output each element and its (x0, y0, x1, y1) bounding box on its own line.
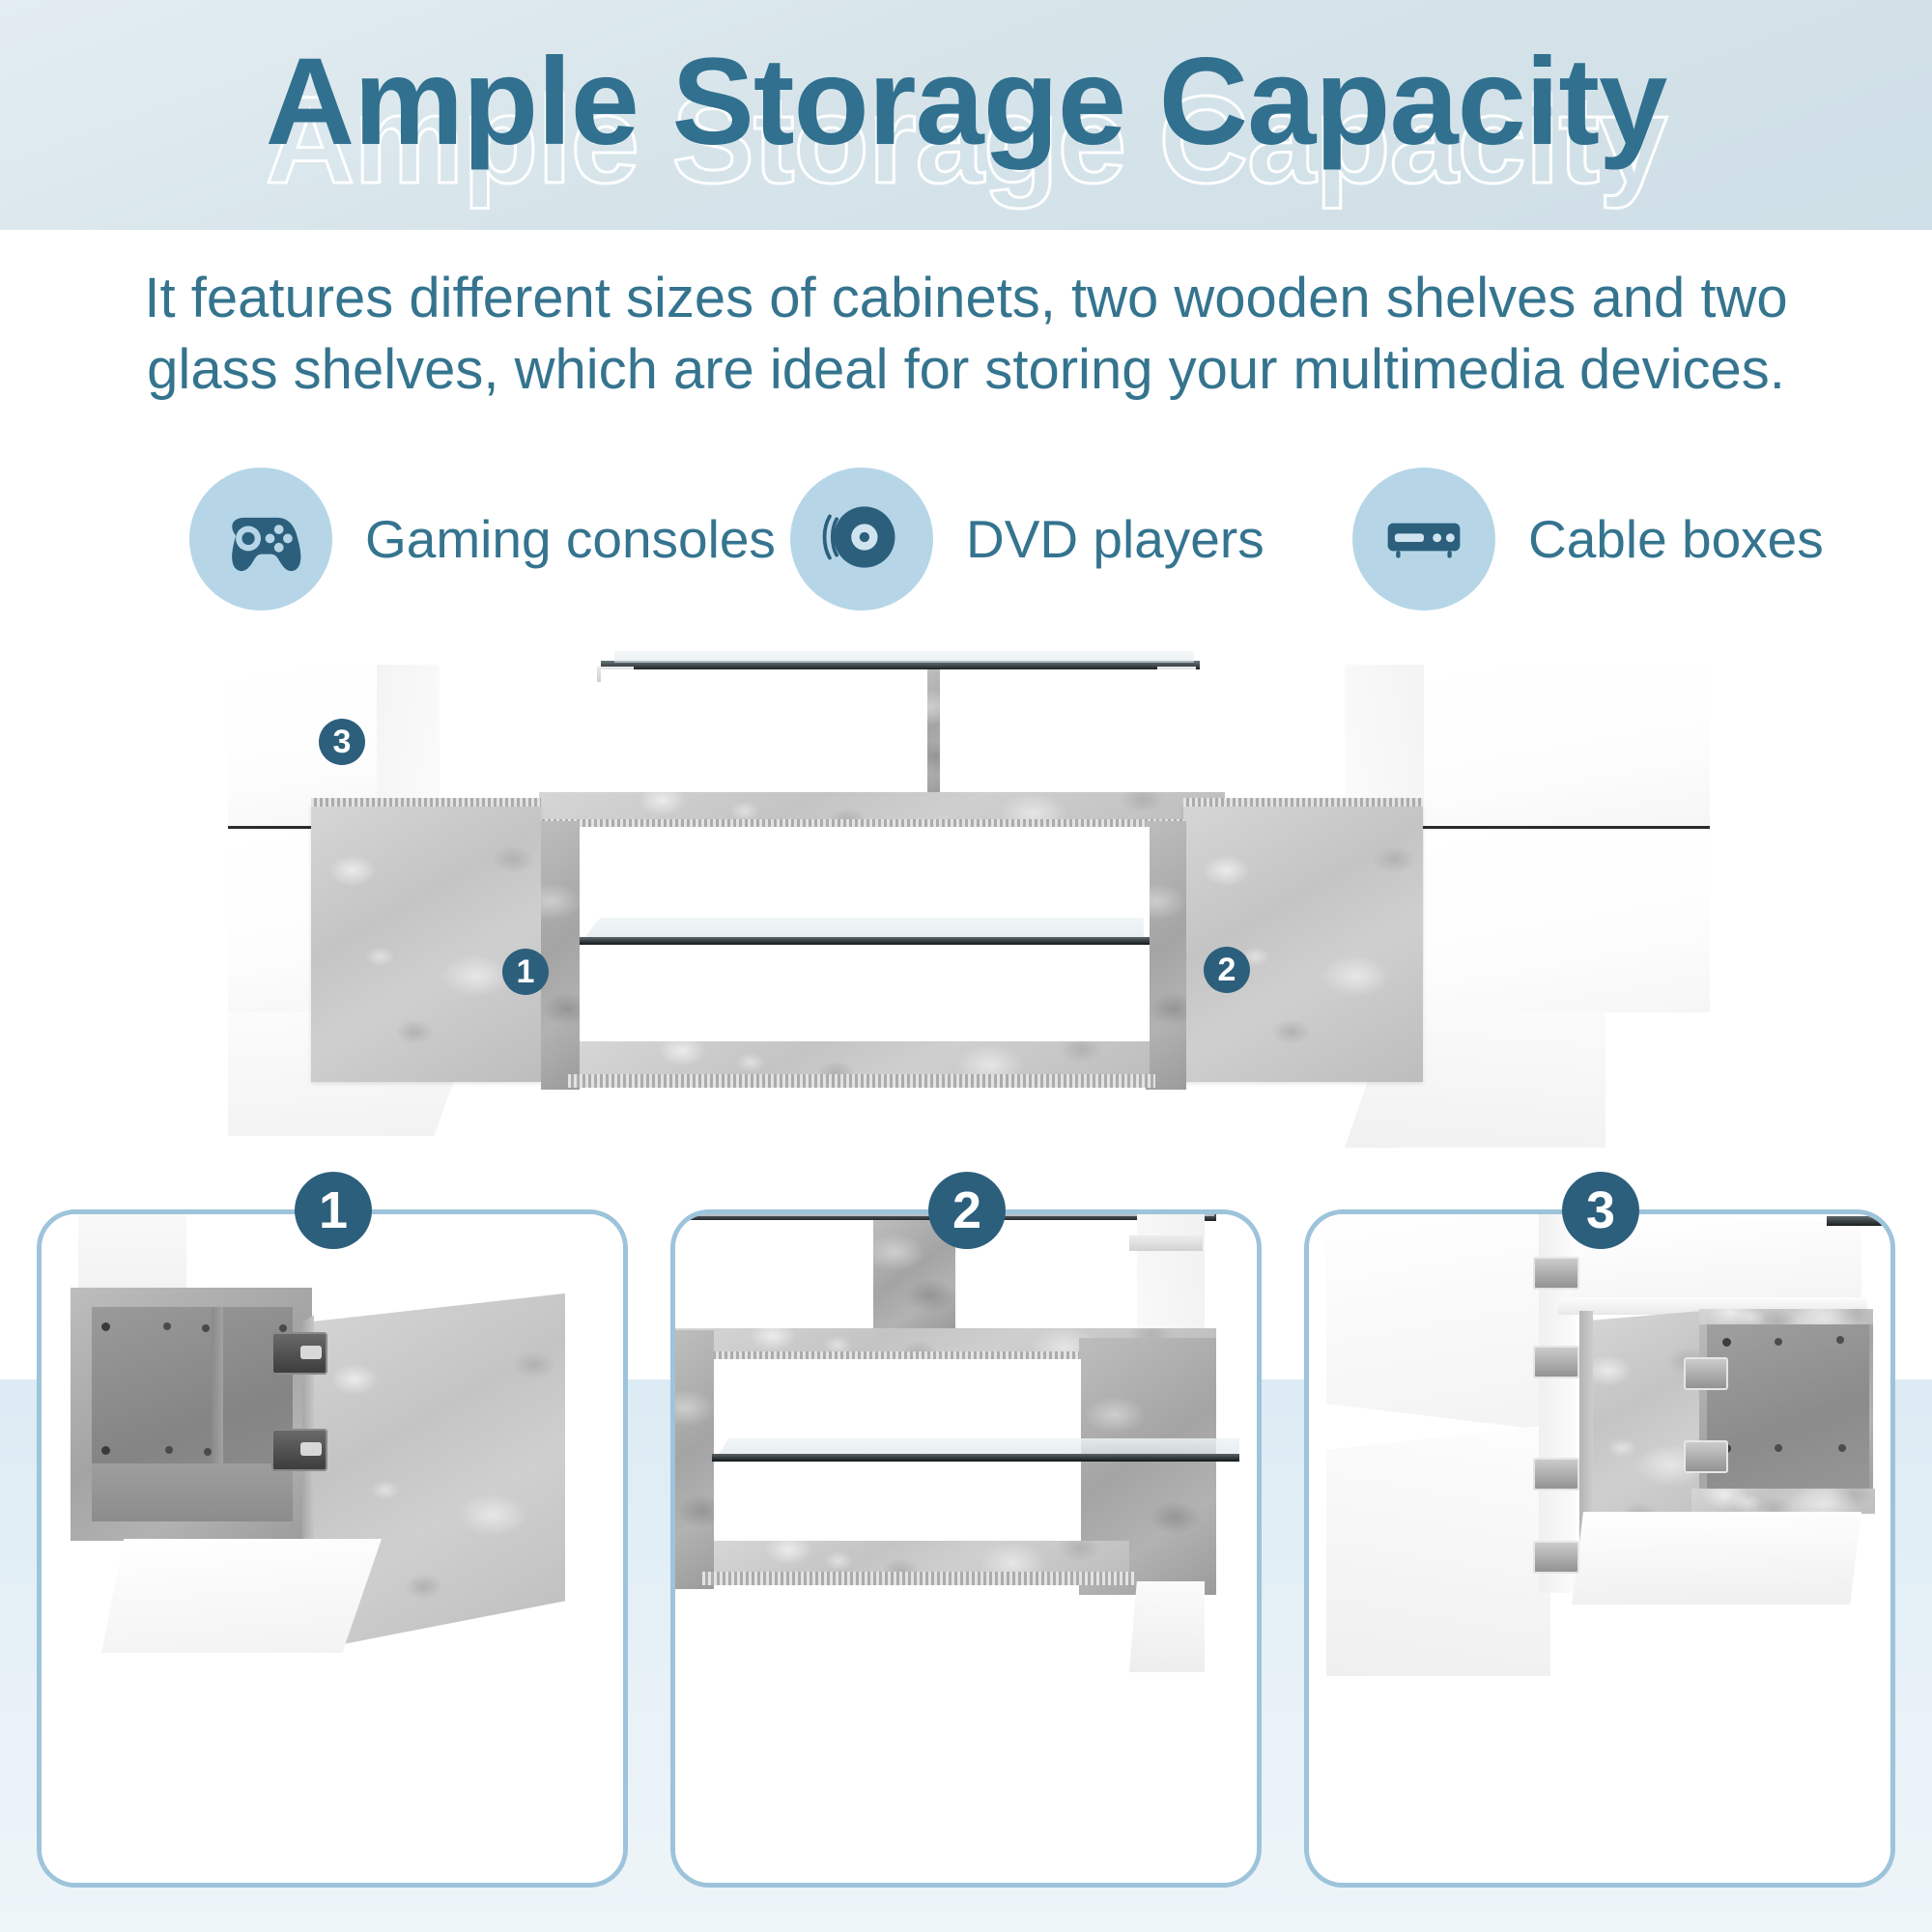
callout-badge-3: 3 (319, 719, 365, 765)
cabinet-hinge (1684, 1440, 1728, 1473)
detail-panel-badge-1: 1 (295, 1172, 372, 1249)
title-block: Ample Storage Capacity Ample Storage Cap… (0, 0, 1932, 230)
dvd-disc-icon (817, 493, 906, 586)
cable-box-icon (1379, 493, 1468, 586)
cabinet-hinge (1533, 1458, 1579, 1491)
center-glass-shelf-surface (583, 918, 1144, 939)
center-glass-shelf-edge (712, 1454, 1239, 1462)
white-base-leg (1129, 1581, 1205, 1672)
detail-panel-2 (670, 1209, 1262, 1888)
header-band: Ample Storage Capacity Ample Storage Cap… (0, 0, 1932, 230)
detail-photo-1 (42, 1214, 623, 1883)
detail-photo-3 (1309, 1214, 1890, 1883)
screw-hole (165, 1446, 173, 1454)
gray-left-inner-wall (541, 821, 580, 1090)
feature-item-dvd-players: DVD players (790, 462, 1264, 616)
cabinet-hinge-arm (300, 1442, 322, 1456)
subtitle-text: It features different sizes of cabinets,… (135, 263, 1797, 405)
page-title: Ample Storage Capacity (0, 41, 1932, 164)
detail-panel-1 (37, 1209, 628, 1888)
product-hero-image: 1 2 3 (0, 638, 1932, 1179)
screw-hole (204, 1448, 212, 1456)
callout-badge-2: 2 (1204, 947, 1250, 993)
upper-bay-back (601, 669, 1200, 793)
screw-hole (1836, 1336, 1844, 1344)
detail-panel-3 (1304, 1209, 1895, 1888)
open-white-door-upper (1326, 1209, 1550, 1431)
open-white-door-lower (1326, 1425, 1550, 1676)
screw-hole (279, 1324, 287, 1332)
gray-interior-floor (92, 1463, 293, 1521)
callout-number: 1 (517, 953, 535, 991)
center-glass-shelf-edge (580, 937, 1150, 945)
screw-hole (1775, 1338, 1782, 1346)
white-base-panel (1572, 1512, 1861, 1605)
badge-number: 1 (319, 1180, 348, 1240)
gray-interior-back (1707, 1321, 1869, 1491)
badge-number: 3 (1586, 1180, 1615, 1240)
top-glass-shelf-surface (614, 651, 1194, 663)
feature-icon-badge (790, 468, 933, 611)
white-base-panel (101, 1539, 382, 1653)
feature-item-cable-boxes: Cable boxes (1352, 462, 1824, 616)
feature-label: Cable boxes (1528, 508, 1824, 570)
feature-row: Gaming consoles DVD players (0, 462, 1932, 616)
badge-number: 2 (952, 1180, 981, 1240)
white-cabinet-right-lower (1420, 829, 1710, 1012)
detail-photo-2 (675, 1214, 1257, 1883)
gray-door-right-top-edge (1183, 798, 1423, 807)
feature-label: Gaming consoles (365, 508, 776, 570)
gamepad-icon (216, 493, 305, 586)
gray-right-inner-wall (1146, 821, 1186, 1090)
feature-item-gaming-consoles: Gaming consoles (189, 462, 776, 616)
shelf-left-wall (675, 1330, 714, 1589)
feature-label: DVD players (966, 508, 1264, 570)
detail-panel-badge-2: 2 (928, 1172, 1006, 1249)
gray-cabinet-door-left (311, 804, 541, 1082)
screw-hole (1722, 1338, 1731, 1347)
screw-hole (101, 1446, 110, 1455)
callout-number: 3 (333, 724, 352, 761)
screw-hole (202, 1324, 210, 1332)
feature-icon-badge (1352, 468, 1495, 611)
callout-badge-1: 1 (502, 949, 549, 995)
gray-interior-floor (1691, 1489, 1875, 1514)
screw-hole (1775, 1444, 1782, 1452)
cabinet-hinge (1533, 1541, 1579, 1574)
gray-door-left-top-edge (311, 798, 541, 807)
detail-panel-badge-3: 3 (1562, 1172, 1639, 1249)
cabinet-hinge (1533, 1257, 1579, 1290)
cabinet-hinge (1533, 1346, 1579, 1378)
cabinet-hinge-arm (300, 1346, 322, 1359)
center-bottom-shelf-edge (568, 1074, 1155, 1088)
feature-icon-badge (189, 468, 332, 611)
cabinet-hinge (1684, 1357, 1728, 1390)
top-glass-bracket (1827, 1216, 1894, 1226)
screw-hole (1838, 1444, 1846, 1452)
screw-hole (163, 1322, 171, 1330)
gray-cabinet-door-right (1183, 804, 1423, 1082)
bottom-wood-shelf-edge (702, 1572, 1137, 1585)
upper-bay-divider (927, 669, 940, 795)
screw-hole (101, 1322, 110, 1331)
gray-interior-top-cap (1699, 1309, 1873, 1324)
glass-shelf-bracket (1129, 1236, 1203, 1251)
white-cabinet-right-upper (1420, 665, 1710, 827)
callout-number: 2 (1218, 952, 1236, 989)
